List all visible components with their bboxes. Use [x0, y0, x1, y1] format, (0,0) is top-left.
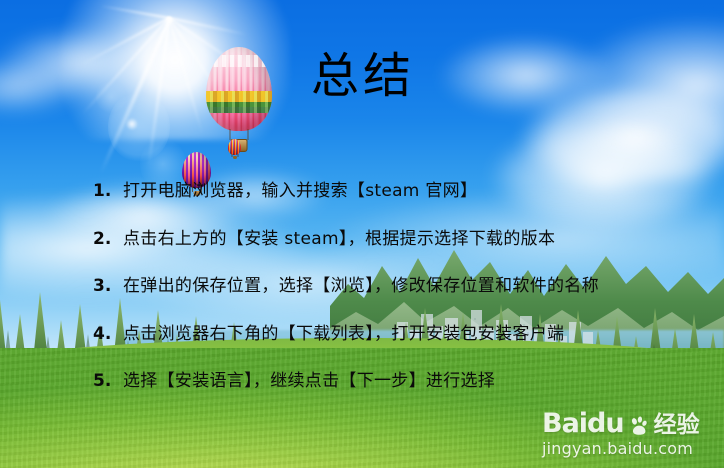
list-item: 1. 打开电脑浏览器，输入并搜索【steam 官网】 [93, 176, 693, 224]
list-item: 5. 选择【安装语言】，继续点击【下一步】进行选择 [93, 366, 693, 414]
hot-air-balloon-large-icon [206, 47, 272, 131]
balloon-stripe-white [206, 55, 272, 67]
list-item-number: 2. [93, 229, 123, 249]
list-item-number: 5. [93, 371, 123, 391]
balloon-stripe-green [206, 102, 272, 113]
balloon-envelope [206, 47, 272, 131]
list-item-number: 1. [93, 181, 123, 201]
hot-air-balloon-small-icon [228, 139, 241, 155]
list-item: 3. 在弹出的保存位置，选择【浏览】，修改保存位置和软件的名称 [93, 271, 693, 319]
list-item-number: 4. [93, 324, 123, 344]
list-item-label: 在弹出的保存位置，选择【浏览】，修改保存位置和软件的名称 [123, 271, 599, 296]
list-item-number: 3. [93, 276, 123, 296]
list-item: 4. 点击浏览器右下角的【下载列表】，打开安装包安装客户端 [93, 319, 693, 367]
page-title: 总结 [311, 52, 415, 100]
list-item-label: 点击浏览器右下角的【下载列表】，打开安装包安装客户端 [123, 319, 564, 344]
list-item-label: 选择【安装语言】，继续点击【下一步】进行选择 [123, 366, 495, 391]
summary-step-list: 1. 打开电脑浏览器，输入并搜索【steam 官网】 2. 点击右上方的【安装 … [93, 176, 693, 414]
list-item: 2. 点击右上方的【安装 steam】，根据提示选择下载的版本 [93, 224, 693, 272]
slide-canvas: 总结 1. 打开电脑浏览器，输入并搜索【steam 官网】 2. 点击右上方的【… [0, 0, 724, 468]
list-item-label: 点击右上方的【安装 steam】，根据提示选择下载的版本 [123, 224, 555, 249]
balloon-basket [233, 156, 237, 159]
balloon-envelope [228, 139, 241, 155]
list-item-label: 打开电脑浏览器，输入并搜索【steam 官网】 [123, 176, 477, 201]
